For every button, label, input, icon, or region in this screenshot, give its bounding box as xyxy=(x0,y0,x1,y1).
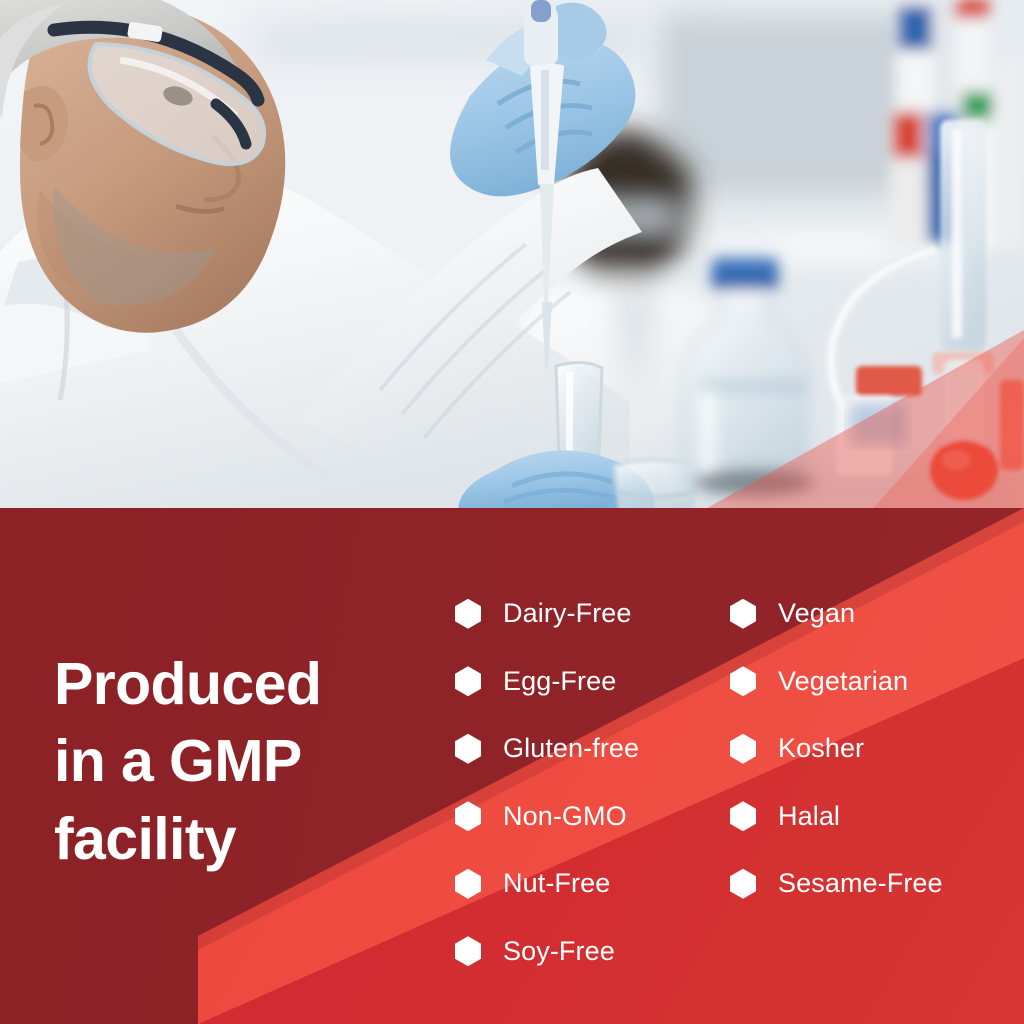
list-item: Vegan xyxy=(730,580,1020,648)
panel-content: Produced in a GMP facility Dairy-Free Eg… xyxy=(0,508,1024,1024)
badge-column-1: Dairy-Free Egg-Free Gluten-free Non-GMO xyxy=(455,580,730,985)
list-item: Halal xyxy=(730,783,1020,851)
badge-label: Nut-Free xyxy=(503,868,610,899)
list-item: Sesame-Free xyxy=(730,850,1020,918)
badge-label: Sesame-Free xyxy=(778,868,943,899)
hexagon-bullet-icon xyxy=(730,869,756,899)
hexagon-bullet-icon xyxy=(455,936,481,966)
hexagon-bullet-icon xyxy=(455,734,481,764)
gmp-facility-banner: Produced in a GMP facility Dairy-Free Eg… xyxy=(0,0,1024,1024)
hexagon-bullet-icon xyxy=(455,801,481,831)
list-item: Vegetarian xyxy=(730,648,1020,716)
hexagon-bullet-icon xyxy=(730,734,756,764)
laboratory-photo xyxy=(0,0,1024,512)
badge-label: Egg-Free xyxy=(503,666,616,697)
red-content-panel: Produced in a GMP facility Dairy-Free Eg… xyxy=(0,508,1024,1024)
badge-label: Vegan xyxy=(778,598,855,629)
list-item: Non-GMO xyxy=(455,783,730,851)
certification-badge-lists: Dairy-Free Egg-Free Gluten-free Non-GMO xyxy=(455,580,1020,985)
list-item: Kosher xyxy=(730,715,1020,783)
list-item: Nut-Free xyxy=(455,850,730,918)
badge-label: Vegetarian xyxy=(778,666,908,697)
badge-label: Halal xyxy=(778,801,840,832)
hexagon-bullet-icon xyxy=(455,666,481,696)
badge-label: Non-GMO xyxy=(503,801,627,832)
list-item: Soy-Free xyxy=(455,918,730,986)
list-item: Gluten-free xyxy=(455,715,730,783)
hexagon-bullet-icon xyxy=(455,869,481,899)
hexagon-bullet-icon xyxy=(455,599,481,629)
hexagon-bullet-icon xyxy=(730,599,756,629)
hexagon-bullet-icon xyxy=(730,666,756,696)
badge-label: Soy-Free xyxy=(503,936,615,967)
list-item: Egg-Free xyxy=(455,648,730,716)
hexagon-bullet-icon xyxy=(730,801,756,831)
badge-label: Dairy-Free xyxy=(503,598,632,629)
page-title: Produced in a GMP facility xyxy=(54,646,454,880)
badge-label: Kosher xyxy=(778,733,864,764)
list-item: Dairy-Free xyxy=(455,580,730,648)
badge-label: Gluten-free xyxy=(503,733,639,764)
badge-column-2: Vegan Vegetarian Kosher Halal xyxy=(730,580,1020,985)
